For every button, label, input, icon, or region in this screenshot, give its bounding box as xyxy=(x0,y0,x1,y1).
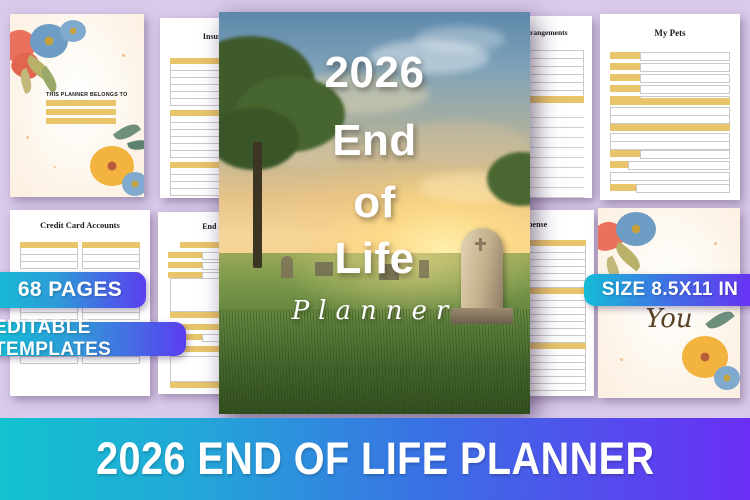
page-belongs-to: THIS PLANNER BELONGS TO xyxy=(10,14,144,197)
product-mockup: THIS PLANNER BELONGS TO Insurance xyxy=(0,0,750,500)
flower-blue xyxy=(714,366,740,390)
badge-templates-label: EDITABLE TEMPLATES xyxy=(0,317,186,361)
pets-rows xyxy=(610,107,730,124)
accent-dot xyxy=(26,136,29,139)
credit-title: Credit Card Accounts xyxy=(10,220,150,230)
pets-bar-pedigree xyxy=(610,98,730,105)
badge-pages-label: 68 PAGES xyxy=(18,278,122,302)
cover-line-1: End xyxy=(219,116,530,166)
book-cover: 2026 End of Life Planner xyxy=(219,12,530,414)
pets-rows xyxy=(610,133,730,150)
pets-title: My Pets xyxy=(600,28,740,38)
cover-year: 2026 xyxy=(219,48,530,98)
flower-blue xyxy=(60,20,86,42)
belongs-line xyxy=(46,100,116,106)
belongs-line xyxy=(46,109,116,115)
pets-food-row xyxy=(610,184,730,193)
badge-pages: 68 PAGES xyxy=(0,272,146,308)
leaf xyxy=(37,66,61,94)
flower-blue xyxy=(616,212,656,246)
bottom-banner: 2026 END OF LIFE PLANNER xyxy=(0,418,750,500)
cover-script-planner: Planner xyxy=(219,296,530,326)
badge-size: SIZE 8.5X11 IN xyxy=(584,274,750,306)
accent-dot xyxy=(54,166,56,168)
accent-dot xyxy=(620,358,623,361)
accent-dot xyxy=(122,54,125,57)
cover-line-3: Life xyxy=(219,234,530,284)
badge-templates: EDITABLE TEMPLATES xyxy=(0,322,186,356)
accent-dot xyxy=(714,242,717,245)
flower-blue xyxy=(122,172,144,196)
belongs-heading: THIS PLANNER BELONGS TO xyxy=(46,92,127,98)
cover-line-2: of xyxy=(219,178,530,228)
bottom-banner-title: 2026 END OF LIFE PLANNER xyxy=(96,433,654,485)
page-my-pets: My Pets xyxy=(600,14,740,200)
belongs-line xyxy=(46,118,116,124)
badge-size-label: SIZE 8.5X11 IN xyxy=(602,279,739,301)
leaf xyxy=(127,137,144,152)
pets-bar-vaccination xyxy=(610,124,730,131)
